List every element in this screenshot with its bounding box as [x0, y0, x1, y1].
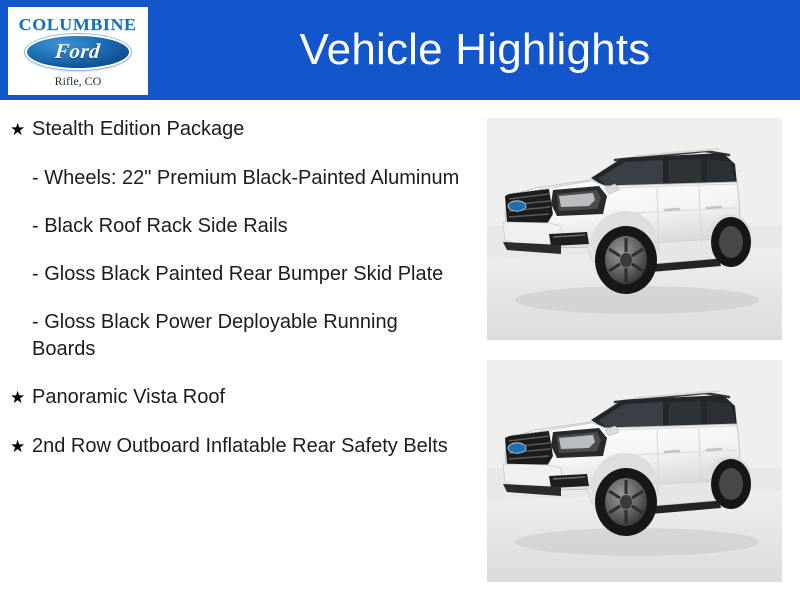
star-bullet-icon: ★ [10, 116, 32, 143]
list-item: ★ 2nd Row Outboard Inflatable Rear Safet… [10, 433, 464, 460]
vehicle-highlights-list: ★ Stealth Edition Package - Wheels: 22" … [0, 104, 470, 600]
list-item-label: - Gloss Black Painted Rear Bumper Skid P… [32, 261, 464, 288]
ford-oval-icon: Ford [25, 34, 131, 70]
vehicle-photo-front-three-quarter-1[interactable] [487, 118, 782, 340]
page-title: Vehicle Highlights [150, 0, 800, 100]
ford-oval-label: Ford [54, 41, 101, 62]
logo-wordmark: COLUMBINE [19, 16, 137, 33]
list-item-label: 2nd Row Outboard Inflatable Rear Safety … [32, 433, 464, 460]
list-item-label: - Black Roof Rack Side Rails [32, 213, 464, 240]
list-item: ★ Panoramic Vista Roof [10, 384, 464, 411]
list-item-label: Stealth Edition Package [32, 116, 464, 143]
columbine-ford-logo[interactable]: COLUMBINE Ford Rifle, CO [8, 7, 148, 95]
list-item-label: - Gloss Black Power Deployable Running B… [32, 309, 464, 363]
suv-illustration [487, 360, 782, 582]
logo-city-label: Rifle, CO [55, 75, 102, 87]
list-item: - Black Roof Rack Side Rails [10, 213, 464, 240]
suv-illustration [487, 118, 782, 340]
star-bullet-icon: ★ [10, 433, 32, 460]
list-item: ★ Stealth Edition Package [10, 116, 464, 143]
list-item-label: - Wheels: 22" Premium Black-Painted Alum… [32, 165, 464, 192]
header-banner: COLUMBINE Ford Rifle, CO Vehicle Highlig… [0, 0, 800, 100]
vehicle-photo-front-three-quarter-2[interactable] [487, 360, 782, 582]
list-item: - Gloss Black Painted Rear Bumper Skid P… [10, 261, 464, 288]
star-bullet-icon: ★ [10, 384, 32, 411]
list-item-label: Panoramic Vista Roof [32, 384, 464, 411]
list-item: - Wheels: 22" Premium Black-Painted Alum… [10, 165, 464, 192]
list-item: - Gloss Black Power Deployable Running B… [10, 309, 464, 363]
